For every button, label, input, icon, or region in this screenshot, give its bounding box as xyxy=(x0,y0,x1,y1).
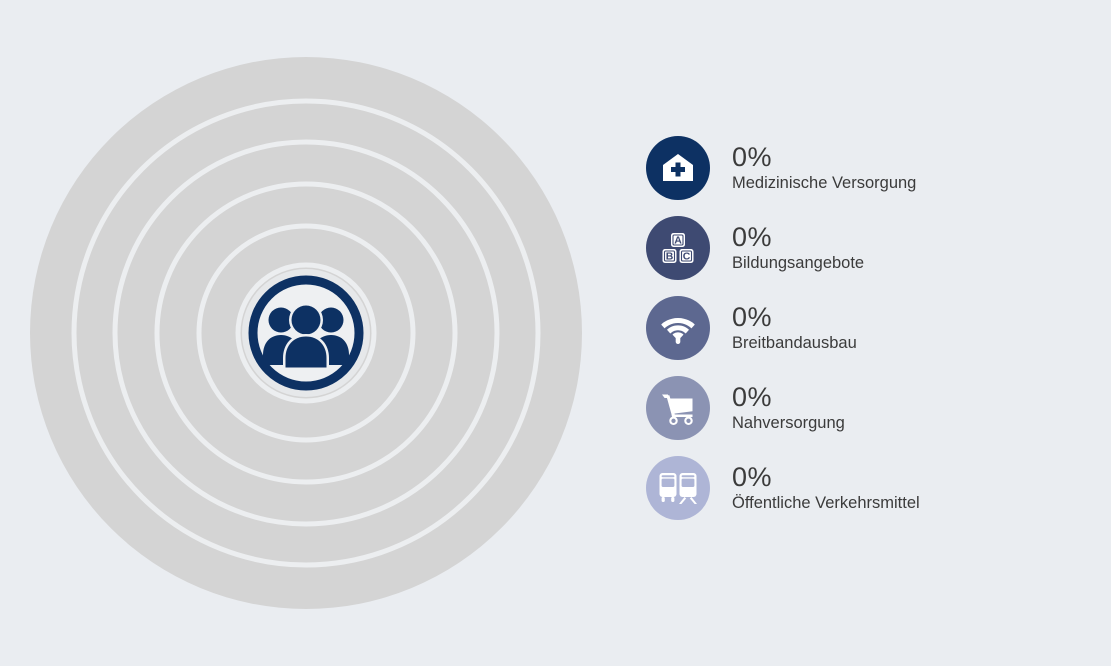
people-group-icon xyxy=(263,303,349,370)
hospital-icon xyxy=(658,148,698,188)
legend-value-3: 0% xyxy=(732,304,857,331)
bus-tram-icon xyxy=(658,471,698,505)
legend-label-5: Öffentliche Verkehrsmittel xyxy=(732,495,920,512)
legend-value-1: 0% xyxy=(732,144,916,171)
legend-label-4: Nahversorgung xyxy=(732,415,845,432)
legend-text-4: 0% Nahversorgung xyxy=(732,384,845,432)
legend-text-2: 0% Bildungsangebote xyxy=(732,224,864,272)
shopping-cart-icon xyxy=(659,389,697,427)
svg-text:C: C xyxy=(683,251,691,263)
legend-icon-badge-2: A B C xyxy=(646,216,710,280)
legend-value-4: 0% xyxy=(732,384,845,411)
legend-value-2: 0% xyxy=(732,224,864,251)
legend-icon-badge-1 xyxy=(646,136,710,200)
wifi-icon xyxy=(659,309,697,347)
legend-item-oeffentliche-verkehrsmittel[interactable]: 0% Öffentliche Verkehrsmittel xyxy=(646,448,1076,528)
legend-text-5: 0% Öffentliche Verkehrsmittel xyxy=(732,464,920,512)
legend-list: 0% Medizinische Versorgung A B C 0% Bild… xyxy=(646,128,1076,528)
legend-label-3: Breitbandausbau xyxy=(732,335,857,352)
legend-item-nahversorgung[interactable]: 0% Nahversorgung xyxy=(646,368,1076,448)
legend-icon-badge-3 xyxy=(646,296,710,360)
radar-diagram xyxy=(0,0,620,666)
abc-blocks-icon: A B C xyxy=(660,230,696,266)
legend-value-5: 0% xyxy=(732,464,920,491)
svg-text:B: B xyxy=(666,251,674,263)
legend-text-3: 0% Breitbandausbau xyxy=(732,304,857,352)
legend-icon-badge-4 xyxy=(646,376,710,440)
svg-text:A: A xyxy=(674,235,682,247)
legend-label-2: Bildungsangebote xyxy=(732,255,864,272)
legend-item-breitbandausbau[interactable]: 0% Breitbandausbau xyxy=(646,288,1076,368)
legend-icon-badge-5 xyxy=(646,456,710,520)
concentric-rings-graphic xyxy=(0,0,620,666)
legend-item-medizinische-versorgung[interactable]: 0% Medizinische Versorgung xyxy=(646,128,1076,208)
legend-label-1: Medizinische Versorgung xyxy=(732,175,916,192)
legend-text-1: 0% Medizinische Versorgung xyxy=(732,144,916,192)
legend-item-bildungsangebote[interactable]: A B C 0% Bildungsangebote xyxy=(646,208,1076,288)
